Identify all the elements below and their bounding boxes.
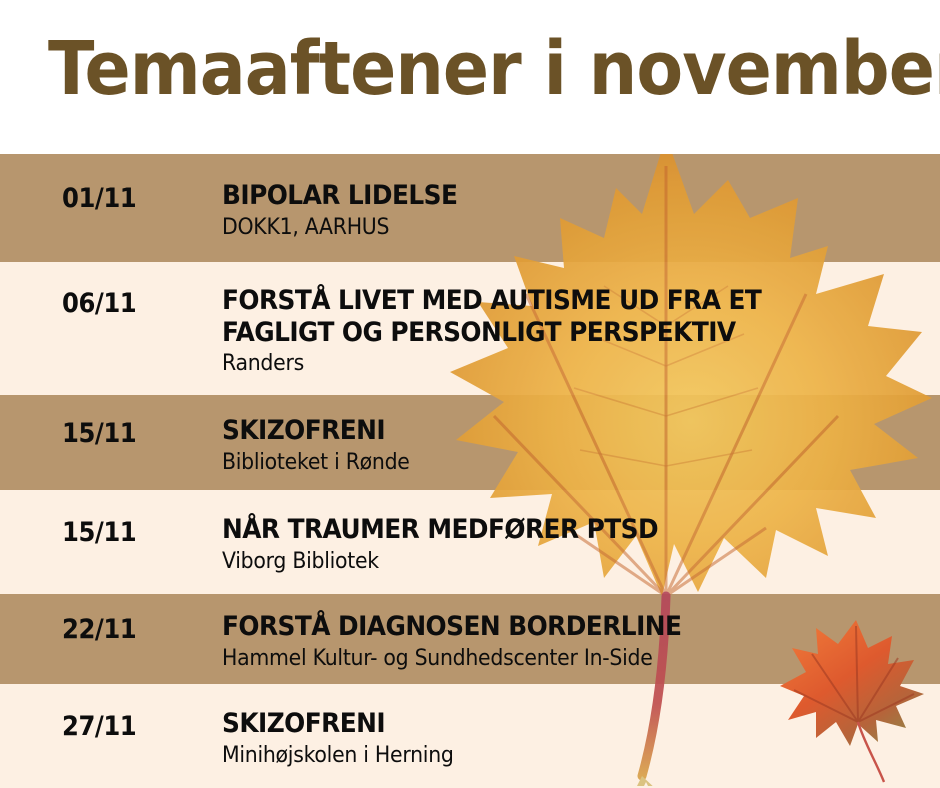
event-row[interactable]: 06/11FORSTÅ LIVET MED AUTISME UD FRA ET … <box>0 262 940 395</box>
event-title: FORSTÅ DIAGNOSEN BORDERLINE <box>222 611 848 643</box>
event-row[interactable]: 15/11NÅR TRAUMER MEDFØRER PTSDViborg Bib… <box>0 490 940 594</box>
event-date: 06/11 <box>62 288 136 319</box>
event-date: 27/11 <box>62 711 136 742</box>
event-body: FORSTÅ DIAGNOSEN BORDERLINEHammel Kultur… <box>222 611 930 671</box>
event-title: FORSTÅ LIVET MED AUTISME UD FRA ET FAGLI… <box>222 285 848 348</box>
event-title: BIPOLAR LIDELSE <box>222 180 848 212</box>
event-body: SKIZOFRENIMinihøjskolen i Herning <box>222 708 930 768</box>
event-body: FORSTÅ LIVET MED AUTISME UD FRA ET FAGLI… <box>222 285 930 376</box>
page-title: Temaaftener i november <box>48 26 940 112</box>
poster-canvas: Temaaftener i november 01/11BIPOLAR LIDE… <box>0 0 940 788</box>
event-venue: Viborg Bibliotek <box>222 549 880 574</box>
event-body: BIPOLAR LIDELSEDOKK1, AARHUS <box>222 180 930 240</box>
event-date: 22/11 <box>62 614 136 645</box>
event-venue: Minihøjskolen i Herning <box>222 743 880 768</box>
event-venue: Randers <box>222 351 880 376</box>
event-row[interactable]: 22/11FORSTÅ DIAGNOSEN BORDERLINEHammel K… <box>0 594 940 684</box>
event-date: 15/11 <box>62 418 136 449</box>
event-row[interactable]: 27/11SKIZOFRENIMinihøjskolen i Herning <box>0 684 940 788</box>
event-row[interactable]: 15/11SKIZOFRENIBiblioteket i Rønde <box>0 395 940 490</box>
event-title: SKIZOFRENI <box>222 708 848 740</box>
event-date: 15/11 <box>62 517 136 548</box>
event-body: SKIZOFRENIBiblioteket i Rønde <box>222 415 930 475</box>
event-date: 01/11 <box>62 183 136 214</box>
event-body: NÅR TRAUMER MEDFØRER PTSDViborg Bibliote… <box>222 514 930 574</box>
event-title: SKIZOFRENI <box>222 415 848 447</box>
event-venue: DOKK1, AARHUS <box>222 215 880 240</box>
title-area: Temaaftener i november <box>0 0 940 154</box>
event-title: NÅR TRAUMER MEDFØRER PTSD <box>222 514 848 546</box>
event-row[interactable]: 01/11BIPOLAR LIDELSEDOKK1, AARHUS <box>0 154 940 262</box>
event-venue: Biblioteket i Rønde <box>222 450 880 475</box>
event-venue: Hammel Kultur- og Sundhedscenter In-Side <box>222 646 880 671</box>
